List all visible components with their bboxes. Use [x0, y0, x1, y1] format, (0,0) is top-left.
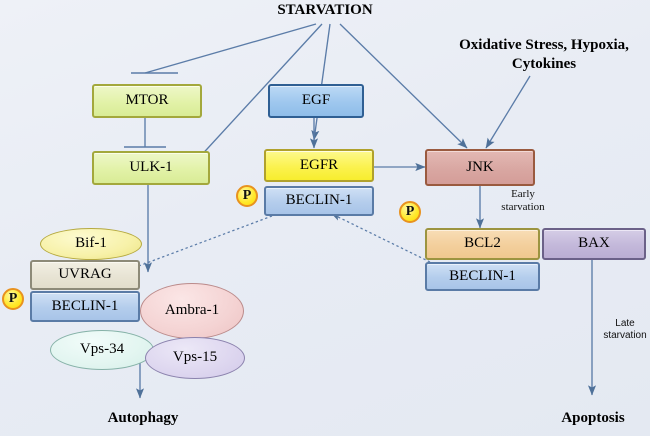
node-jnk-label: JNK: [466, 160, 494, 176]
phospho-badge-beclin1-egfr-label: P: [243, 188, 252, 204]
node-mtor-label: MTOR: [125, 93, 168, 109]
node-jnk[interactable]: JNK: [425, 149, 535, 186]
phospho-badge-beclin1-left-label: P: [9, 291, 18, 307]
late-starvation-line2: starvation: [600, 330, 650, 342]
node-uvrag[interactable]: UVRAG: [30, 260, 140, 290]
early-starvation-line2: starvation: [487, 201, 559, 214]
node-bcl2-label: BCL2: [464, 236, 501, 252]
node-beclin1-bcl2[interactable]: BECLIN-1: [425, 262, 540, 291]
late-starvation-label: Late starvation: [600, 318, 650, 341]
node-egf-label: EGF: [302, 93, 330, 109]
node-bcl2[interactable]: BCL2: [425, 228, 540, 260]
phospho-badge-bcl2-label: P: [406, 204, 415, 220]
node-bif1-label: Bif-1: [75, 236, 107, 252]
phospho-badge-beclin1-left: P: [2, 288, 24, 310]
node-vps15-label: Vps-15: [173, 350, 217, 366]
node-beclin1-egfr-label: BECLIN-1: [286, 193, 353, 209]
node-vps15[interactable]: Vps-15: [145, 337, 245, 379]
pathway-diagram: STARVATION Oxidative Stress, Hypoxia, Cy…: [0, 0, 650, 436]
node-uvrag-label: UVRAG: [58, 267, 111, 283]
node-bax-label: BAX: [578, 236, 610, 252]
late-starvation-line1: Late: [600, 318, 650, 330]
phospho-badge-bcl2: P: [399, 201, 421, 223]
early-starvation-line1: Early: [487, 188, 559, 201]
node-bax[interactable]: BAX: [542, 228, 646, 260]
edge-starvation-mtor: [145, 24, 316, 73]
stress-label: Oxidative Stress, Hypoxia, Cytokines: [438, 36, 650, 74]
node-egf[interactable]: EGF: [268, 84, 364, 118]
early-starvation-label: Early starvation: [487, 188, 559, 213]
page-title: STARVATION: [255, 2, 395, 19]
node-mtor[interactable]: MTOR: [92, 84, 202, 118]
node-vps34[interactable]: Vps-34: [50, 330, 154, 370]
node-beclin1-left[interactable]: BECLIN-1: [30, 291, 140, 322]
node-ambra1-label: Ambra-1: [165, 303, 219, 319]
node-beclin1-left-label: BECLIN-1: [52, 299, 119, 315]
node-beclin1-bcl2-label: BECLIN-1: [449, 269, 516, 285]
autophagy-label: Autophagy: [88, 410, 198, 427]
phospho-badge-beclin1-egfr: P: [236, 185, 258, 207]
edge-starvation-egfr: [314, 24, 330, 140]
apoptosis-label: Apoptosis: [540, 410, 646, 427]
node-ulk1[interactable]: ULK-1: [92, 151, 210, 185]
node-bif1[interactable]: Bif-1: [40, 228, 142, 260]
edge-stress-jnk: [486, 76, 530, 148]
node-egfr-label: EGFR: [300, 158, 338, 174]
node-vps34-label: Vps-34: [80, 342, 124, 358]
node-ambra1[interactable]: Ambra-1: [140, 283, 244, 339]
node-ulk1-label: ULK-1: [129, 160, 172, 176]
node-egfr[interactable]: EGFR: [264, 149, 374, 182]
node-beclin1-egfr[interactable]: BECLIN-1: [264, 186, 374, 216]
